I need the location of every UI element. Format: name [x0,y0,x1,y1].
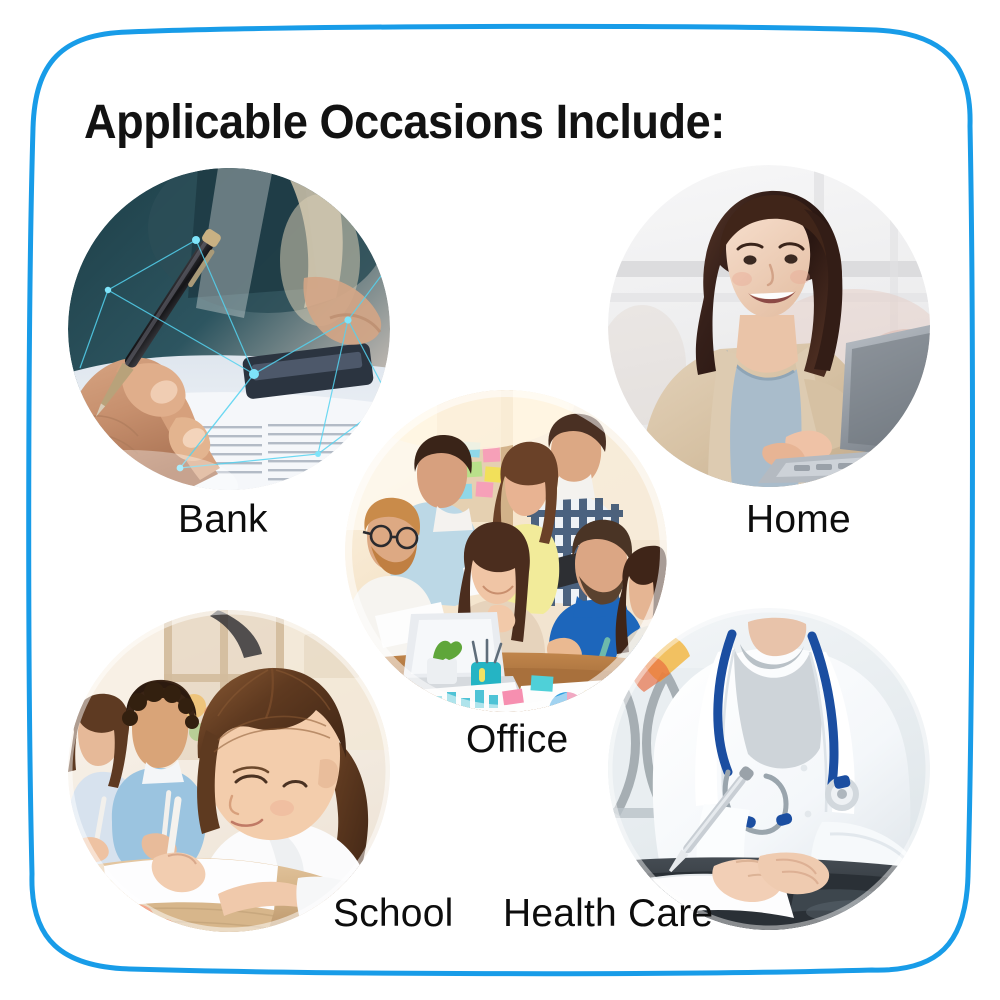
school-photo-illustration [68,610,390,932]
occasion-photo-health-care [608,608,930,930]
health-care-photo-illustration [608,608,930,930]
home-photo-illustration [608,165,930,487]
occasion-photo-bank [68,168,390,490]
occasion-label-bank: Bank [178,498,268,542]
occasion-label-office: Office [466,718,568,762]
poster-canvas: Applicable Occasions Include: [0,0,1000,1000]
occasion-photo-home [608,165,930,487]
bank-photo-illustration [68,168,390,490]
occasion-photo-office [345,390,667,712]
office-photo-illustration [345,390,667,712]
occasion-label-health-care: Health Care [503,892,713,936]
page-title: Applicable Occasions Include: [84,95,725,150]
occasion-label-school: School [333,892,453,936]
occasion-photo-school [68,610,390,932]
occasion-label-home: Home [746,498,851,542]
